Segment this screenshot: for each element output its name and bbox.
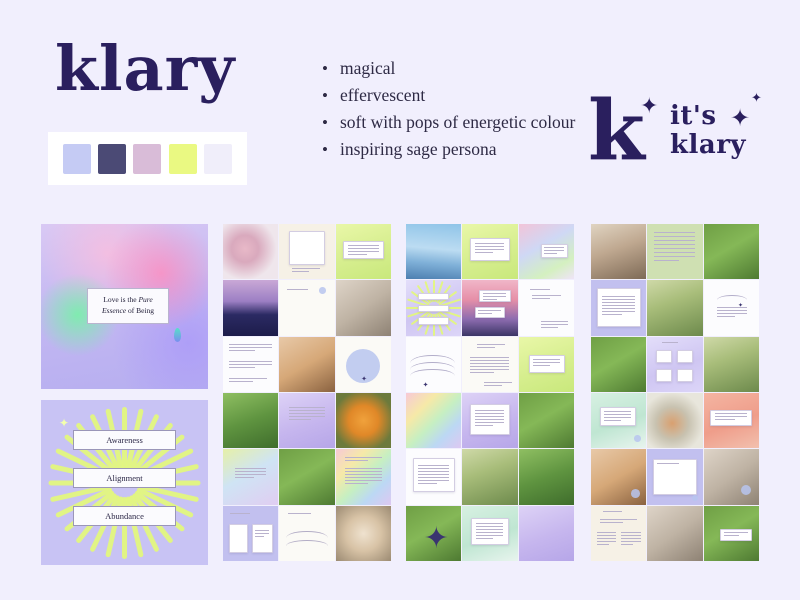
instagram-grid: ✦ xyxy=(591,224,759,561)
dog-in-blossom-photo-surface xyxy=(647,393,702,448)
quote-list-card[interactable] xyxy=(223,337,278,392)
sparkle-icon: ✦ xyxy=(738,302,743,309)
trait-label: inspiring sage persona xyxy=(340,139,497,159)
monogram-k: k xyxy=(588,90,645,172)
mini-text-lines xyxy=(600,519,638,523)
rainbow-arc-photo-surface xyxy=(406,393,461,448)
step-chip-abundance: Abundance xyxy=(73,506,176,526)
green-garden-photo[interactable] xyxy=(279,449,334,504)
periwinkle-frame-card[interactable] xyxy=(647,449,702,504)
mini-text-lines xyxy=(662,342,689,343)
mini-logo-badge xyxy=(634,435,641,442)
boho-room-photo-surface xyxy=(591,224,646,279)
mini-text-lines xyxy=(229,378,268,382)
mini-logo-badge xyxy=(631,489,640,498)
moodboard-grid-3[interactable]: ✦ xyxy=(591,224,759,561)
violet-ui-panel-card[interactable] xyxy=(462,393,517,448)
brand-header: klary • magical • effervescent • soft wi… xyxy=(0,0,800,215)
gratitude-gradient-quote-surface xyxy=(223,449,278,504)
mini-text-lines xyxy=(544,247,564,254)
rainbow-quote-card[interactable]: ✦ xyxy=(704,280,759,335)
purple-iris-photo[interactable] xyxy=(519,506,574,561)
mini-ui-card xyxy=(470,238,510,260)
sunhat-portrait-photo-surface xyxy=(647,280,702,335)
periwinkle-collage-card[interactable] xyxy=(223,506,278,561)
mint-doc-card-surface xyxy=(462,506,517,561)
sparkle-icon: ✦ xyxy=(424,521,449,556)
flatlay-stone-photo[interactable] xyxy=(704,449,759,504)
moodboard-grid-2[interactable]: ✦✦ xyxy=(406,224,574,561)
mini-text-lines xyxy=(287,289,320,290)
product-box-photo[interactable] xyxy=(591,449,646,504)
mini-text-lines xyxy=(229,344,272,351)
mini-text-lines xyxy=(597,532,617,545)
mini-text-lines xyxy=(604,411,631,421)
drink-garden-photo[interactable] xyxy=(704,506,759,561)
boho-room-photo[interactable] xyxy=(591,224,646,279)
hands-holding-box-photo[interactable] xyxy=(647,506,702,561)
logo-lockup: k ✦ ✦ ✦ it's klary xyxy=(588,92,778,192)
colour-palette-card xyxy=(48,132,247,185)
mini-ui-card xyxy=(597,288,641,327)
sage-script-quote-card[interactable] xyxy=(647,224,702,279)
pale-line-chart-card[interactable] xyxy=(279,506,334,561)
mini-logo-badge xyxy=(741,485,751,495)
mini-text-lines xyxy=(230,513,263,514)
mini-ui-card xyxy=(252,524,273,553)
mini-ui-card xyxy=(343,241,384,260)
wildflower-meadow-photo[interactable] xyxy=(704,224,759,279)
purple-iris-photo-surface xyxy=(519,506,574,561)
mini-ui-card xyxy=(229,524,249,553)
mini-ui-card xyxy=(656,350,671,363)
mini-text-lines xyxy=(483,293,506,300)
logo-tagline-line2: klary xyxy=(670,130,746,160)
sunhat-portrait-photo[interactable] xyxy=(647,280,702,335)
mini-text-lines xyxy=(292,268,321,272)
mini-text-lines xyxy=(541,321,569,328)
mint-ui-card-surface xyxy=(591,393,646,448)
moodboard-row: Love is the Pure Essence of Being ✦ Awar… xyxy=(0,224,800,566)
healing-tool-poster-surface xyxy=(591,506,646,561)
star-motif-card[interactable]: ✦ xyxy=(406,506,461,561)
way-of-peace-doc-card[interactable] xyxy=(462,337,517,392)
mini-ui-card xyxy=(418,293,449,301)
poster-art-card[interactable] xyxy=(279,224,334,279)
flatlay-stone-photo-surface xyxy=(704,449,759,504)
floral-teacup-photo[interactable] xyxy=(336,280,391,335)
mini-text-lines xyxy=(477,344,506,348)
periwinkle-doc-card[interactable] xyxy=(591,280,646,335)
lime-ui-list-card-surface xyxy=(519,337,574,392)
mint-ui-card[interactable] xyxy=(591,393,646,448)
step-chip-alignment: Alignment xyxy=(73,468,176,488)
cacao-ceremony-circle-card-surface: ✦ xyxy=(336,337,391,392)
sunset-shore-quote-photo[interactable] xyxy=(462,280,517,335)
mini-text-lines xyxy=(484,382,512,386)
sage-script-quote-card-surface xyxy=(647,224,702,279)
brand-wordmark: klary xyxy=(55,38,235,100)
sparkle-icon: ✦ xyxy=(423,381,429,389)
mini-text-lines xyxy=(532,295,561,299)
mini-text-lines xyxy=(530,289,563,290)
pale-line-chart-card-surface xyxy=(279,506,334,561)
rosemary-botanical-card[interactable] xyxy=(279,280,334,335)
trait-item: • effervescent xyxy=(322,85,584,107)
mini-text-lines xyxy=(255,530,270,537)
mint-doc-card[interactable] xyxy=(462,506,517,561)
bullet-icon: • xyxy=(322,139,328,160)
rosemary-botanical-card-surface xyxy=(279,280,334,335)
sunburst-mini-tile[interactable] xyxy=(406,280,461,335)
cacao-ceremony-circle-card[interactable]: ✦ xyxy=(336,337,391,392)
floral-teacup-photo-surface xyxy=(336,280,391,335)
periwinkle-frame-card-surface xyxy=(647,449,702,504)
moodboard-grid-1[interactable]: ✦ xyxy=(223,224,391,561)
mini-text-lines xyxy=(348,245,378,255)
lime-gradient-ui-card[interactable] xyxy=(336,224,391,279)
sparkle-icon: ✦ xyxy=(640,96,658,118)
hands-holding-box-photo-surface xyxy=(647,506,702,561)
dusk-mountain-photo-surface xyxy=(223,280,278,335)
mini-text-lines xyxy=(229,361,272,368)
sunburst-three-a-tile[interactable]: ✦ Awareness Alignment Abundance xyxy=(41,400,208,565)
green-garden-photo-surface xyxy=(279,449,334,504)
pale-checklist-card-surface xyxy=(406,449,461,504)
lime-gradient-ui-card-surface xyxy=(336,224,391,279)
mini-ui-card xyxy=(289,231,324,265)
white-dress-garden-photo-surface xyxy=(591,337,646,392)
mini-ui-card xyxy=(418,317,449,325)
grass-blades-photo-surface xyxy=(519,449,574,504)
gratitude-gradient-quote[interactable] xyxy=(223,449,278,504)
palette-swatch-2 xyxy=(133,144,161,174)
lilac-cloud-quote-card[interactable] xyxy=(279,393,334,448)
mini-text-lines xyxy=(345,457,383,461)
quote-list-card-surface xyxy=(223,337,278,392)
palette-swatch-4 xyxy=(204,144,232,174)
market-stall-photo[interactable] xyxy=(279,337,334,392)
product-box-photo-surface xyxy=(591,449,646,504)
trait-item: • inspiring sage persona xyxy=(322,139,584,161)
mini-text-lines xyxy=(288,513,325,514)
sparkle-icon: ✦ xyxy=(751,92,762,105)
peach-notification-card-surface xyxy=(704,393,759,448)
pink-green-gradient-quote-surface xyxy=(519,224,574,279)
mini-ui-card xyxy=(600,407,637,426)
mini-text-lines xyxy=(621,532,641,545)
step-chip-awareness: Awareness xyxy=(73,430,176,450)
sunburst-mini-tile-surface xyxy=(406,280,461,335)
mini-wave-line xyxy=(286,540,328,552)
wave-lines-card-surface: ✦ xyxy=(406,337,461,392)
logo-tagline-line1: it's xyxy=(670,101,716,131)
teardrop-icon xyxy=(174,328,181,342)
lime-aura-ui-card[interactable] xyxy=(462,224,517,279)
mini-ui-card xyxy=(475,307,506,318)
mini-text-lines xyxy=(657,463,692,464)
lilac-cloud-quote-card-surface xyxy=(279,393,334,448)
bullet-icon: • xyxy=(322,58,328,79)
wave-lines-card[interactable]: ✦ xyxy=(406,337,461,392)
hand-on-moss-photo-surface xyxy=(223,393,278,448)
bullet-icon: • xyxy=(322,112,328,133)
quote-post: of Being xyxy=(126,306,154,315)
plant-diagram-card-surface xyxy=(647,337,702,392)
mini-ui-card xyxy=(653,459,697,494)
trait-item: • magical xyxy=(322,58,584,80)
mini-text-lines xyxy=(475,410,505,426)
mini-text-lines xyxy=(345,468,383,484)
mini-wave-line xyxy=(410,369,454,383)
palette-swatch-3 xyxy=(169,144,197,174)
mini-ui-card xyxy=(677,369,692,382)
mini-ui-card xyxy=(710,410,752,427)
mini-ui-card xyxy=(418,305,449,313)
mini-text-lines xyxy=(533,359,560,366)
mini-logo-badge xyxy=(692,495,698,501)
lime-ui-list-card[interactable] xyxy=(519,337,574,392)
palette-swatch-1 xyxy=(98,144,126,174)
star-motif-card-surface: ✦ xyxy=(406,506,461,561)
brand-traits-list: • magical • effervescent • soft with pop… xyxy=(322,58,584,166)
mini-ui-card xyxy=(677,350,692,363)
dusk-mountain-photo[interactable] xyxy=(223,280,278,335)
sparkle-icon: ✦ xyxy=(361,375,367,383)
rainbow-arc-photo[interactable] xyxy=(406,393,461,448)
trait-label: effervescent xyxy=(340,85,425,105)
mini-ui-card xyxy=(656,369,671,382)
orange-fruit-bowl-photo-surface xyxy=(336,393,391,448)
aura-gradient-quote-tile[interactable]: Love is the Pure Essence of Being xyxy=(41,224,208,389)
grass-blades-photo[interactable] xyxy=(519,449,574,504)
mini-ui-card xyxy=(720,529,752,541)
drink-garden-photo-surface xyxy=(704,506,759,561)
mini-text-lines xyxy=(715,413,746,420)
poster-art-card-surface xyxy=(279,224,334,279)
plant-diagram-card[interactable] xyxy=(647,337,702,392)
mini-text-lines xyxy=(289,407,324,420)
market-stall-photo-surface xyxy=(279,337,334,392)
trait-label: soft with pops of energetic colour xyxy=(340,112,575,132)
wildflower-meadow-photo-surface xyxy=(704,224,759,279)
autumn-equinox-card-surface xyxy=(519,280,574,335)
periwinkle-collage-card-surface xyxy=(223,506,278,561)
autumn-equinox-card[interactable] xyxy=(519,280,574,335)
mini-text-lines xyxy=(603,511,634,512)
peach-notification-card[interactable] xyxy=(704,393,759,448)
crystals-pink-photo-surface xyxy=(223,224,278,279)
mini-text-lines xyxy=(476,523,504,539)
bullet-icon: • xyxy=(322,85,328,106)
mini-ui-card xyxy=(470,404,510,435)
sparkle-icon: ✦ xyxy=(59,416,69,430)
instagram-grid: ✦✦ xyxy=(406,224,574,561)
way-of-peace-doc-card-surface xyxy=(462,337,517,392)
quote-pre: Love is the xyxy=(103,295,138,304)
mini-text-lines xyxy=(235,468,266,478)
mini-ui-card xyxy=(479,290,511,302)
mini-text-lines xyxy=(654,232,695,261)
mini-text-lines xyxy=(470,357,509,373)
mini-ui-card xyxy=(529,355,566,373)
mini-ui-card xyxy=(413,458,455,492)
violet-ui-panel-card-surface xyxy=(462,393,517,448)
dog-in-blossom-photo[interactable] xyxy=(647,393,702,448)
three-a-stack: Awareness Alignment Abundance xyxy=(73,430,176,526)
crystals-pink-photo[interactable] xyxy=(223,224,278,279)
beach-sky-photo[interactable] xyxy=(406,224,461,279)
mini-ui-card xyxy=(471,518,509,546)
person-reaching-photo[interactable] xyxy=(462,449,517,504)
logo-tagline: it's klary xyxy=(670,102,746,160)
mini-ui-card xyxy=(541,244,569,258)
mini-text-lines xyxy=(418,465,449,484)
orange-fruit-bowl-photo[interactable] xyxy=(336,393,391,448)
periwinkle-doc-card-surface xyxy=(591,280,646,335)
person-reaching-photo-surface xyxy=(462,449,517,504)
crystal-tree-photo-surface xyxy=(336,506,391,561)
hand-on-moss-photo[interactable] xyxy=(223,393,278,448)
rose-portrait-photo[interactable] xyxy=(704,337,759,392)
mini-logo-badge xyxy=(319,287,326,294)
trait-label: magical xyxy=(340,58,395,78)
mini-text-lines xyxy=(724,532,747,536)
rose-portrait-photo-surface xyxy=(704,337,759,392)
mini-text-lines xyxy=(475,243,505,253)
mini-text-lines xyxy=(602,296,635,315)
trait-item: • soft with pops of energetic colour xyxy=(322,112,584,134)
lime-aura-ui-card-surface xyxy=(462,224,517,279)
instagram-grid: ✦ xyxy=(223,224,391,561)
green-reeds-photo[interactable] xyxy=(519,393,574,448)
palette-swatch-0 xyxy=(63,144,91,174)
aura-quote-chip: Love is the Pure Essence of Being xyxy=(87,288,169,324)
mini-text-lines xyxy=(478,310,501,314)
rainbow-quote-card-surface: ✦ xyxy=(704,280,759,335)
green-reeds-photo-surface xyxy=(519,393,574,448)
white-dress-garden-photo[interactable] xyxy=(591,337,646,392)
healing-tool-poster[interactable] xyxy=(591,506,646,561)
sunset-shore-quote-photo-surface xyxy=(462,280,517,335)
beach-sky-photo-surface xyxy=(406,224,461,279)
rainbow-gradient-list-surface xyxy=(336,449,391,504)
pale-checklist-card[interactable] xyxy=(406,449,461,504)
crystal-tree-photo[interactable] xyxy=(336,506,391,561)
pink-green-gradient-quote[interactable] xyxy=(519,224,574,279)
rainbow-gradient-list[interactable] xyxy=(336,449,391,504)
